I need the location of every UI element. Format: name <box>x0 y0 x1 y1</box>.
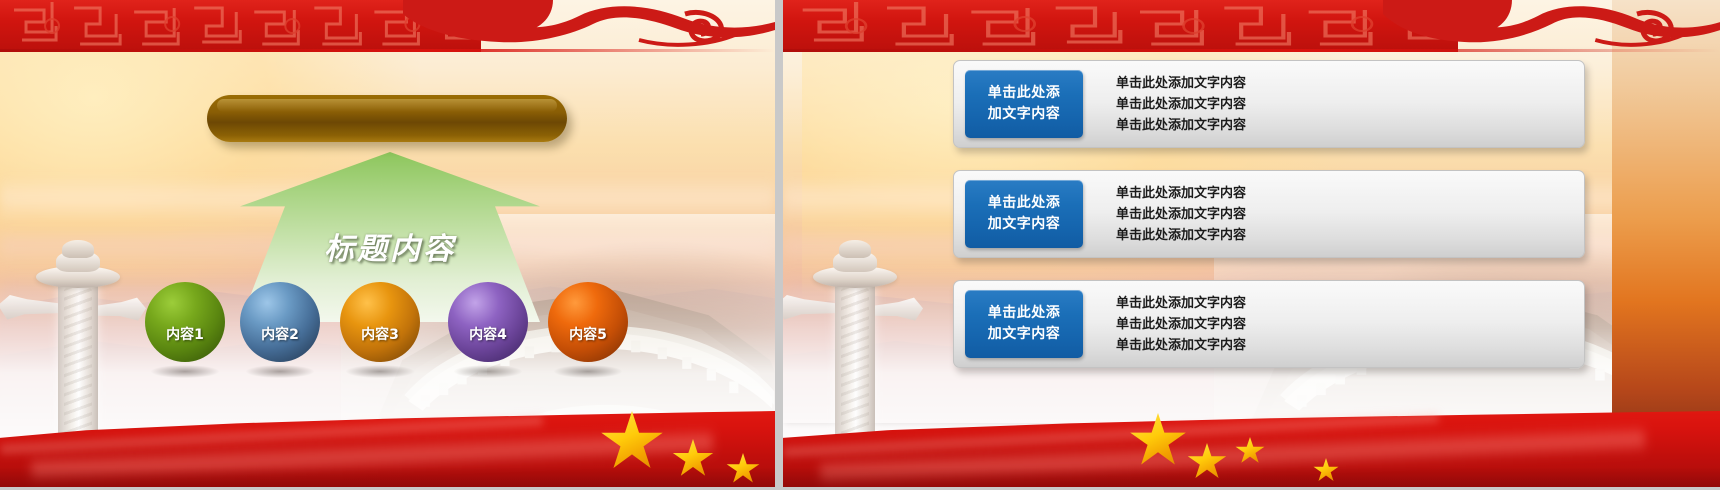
circle-row: 内容1 内容2 内容3 内容4 内容5 <box>0 282 775 392</box>
circle-label: 内容5 <box>548 324 628 344</box>
circle-item-4[interactable]: 内容4 <box>448 282 528 362</box>
circle-shadow <box>246 365 314 378</box>
circle-label: 内容3 <box>340 324 420 344</box>
row-body-text: 单击此处添加文字内容 单击此处添加文字内容 单击此处添加文字内容 <box>1116 73 1570 136</box>
slide-divider <box>775 0 783 490</box>
row-tag-line2: 加文字内容 <box>988 214 1061 235</box>
circle-shadow <box>554 365 622 378</box>
row-body-line: 单击此处添加文字内容 <box>1116 73 1570 94</box>
slide-header-bar <box>783 0 1720 52</box>
title-placeholder-bar[interactable] <box>207 95 567 142</box>
row-body-text: 单击此处添加文字内容 单击此处添加文字内容 单击此处添加文字内容 <box>1116 293 1570 356</box>
circle-label: 内容2 <box>240 324 320 344</box>
row-body-text: 单击此处添加文字内容 单击此处添加文字内容 单击此处添加文字内容 <box>1116 183 1570 246</box>
red-silk-ribbon <box>783 391 1720 487</box>
row-body-line: 单击此处添加文字内容 <box>1116 115 1570 136</box>
red-silk-ribbon <box>0 391 775 487</box>
content-row[interactable]: 单击此处添 加文字内容 单击此处添加文字内容 单击此处添加文字内容 单击此处添加… <box>953 280 1585 368</box>
cloud-swirl-decoration <box>1383 0 1720 52</box>
content-row[interactable]: 单击此处添 加文字内容 单击此处添加文字内容 单击此处添加文字内容 单击此处添加… <box>953 60 1585 148</box>
row-tag-line2: 加文字内容 <box>988 104 1061 125</box>
row-body-line: 单击此处添加文字内容 <box>1116 94 1570 115</box>
two-slide-deck: 标题内容 内容1 内容2 内容3 内容4 内容5 <box>0 0 1720 490</box>
content-rows: 单击此处添 加文字内容 单击此处添加文字内容 单击此处添加文字内容 单击此处添加… <box>953 60 1585 390</box>
circle-shadow <box>454 365 522 378</box>
circle-shadow <box>151 365 219 378</box>
row-body-line: 单击此处添加文字内容 <box>1116 225 1570 246</box>
row-tag-line2: 加文字内容 <box>988 324 1061 345</box>
circle-shadow <box>346 365 414 378</box>
row-tag-line1: 单击此处添 <box>988 193 1061 214</box>
circle-item-3[interactable]: 内容3 <box>340 282 420 362</box>
circle-label: 内容1 <box>145 324 225 344</box>
chinese-fret-pattern <box>783 0 1458 52</box>
slide-left[interactable]: 标题内容 内容1 内容2 内容3 内容4 内容5 <box>0 0 775 487</box>
circle-item-5[interactable]: 内容5 <box>548 282 628 362</box>
slide-right[interactable]: 单击此处添 加文字内容 单击此处添加文字内容 单击此处添加文字内容 单击此处添加… <box>783 0 1720 487</box>
cloud-swirl-decoration <box>403 0 775 52</box>
row-body-line: 单击此处添加文字内容 <box>1116 293 1570 314</box>
row-tag-line1: 单击此处添 <box>988 83 1061 104</box>
row-body-line: 单击此处添加文字内容 <box>1116 314 1570 335</box>
circle-item-2[interactable]: 内容2 <box>240 282 320 362</box>
row-tag-line1: 单击此处添 <box>988 303 1061 324</box>
arrow-title-text: 标题内容 <box>240 224 540 268</box>
row-tag-button[interactable]: 单击此处添 加文字内容 <box>965 290 1083 358</box>
row-tag-button[interactable]: 单击此处添 加文字内容 <box>965 180 1083 248</box>
circle-item-1[interactable]: 内容1 <box>145 282 225 362</box>
content-row[interactable]: 单击此处添 加文字内容 单击此处添加文字内容 单击此处添加文字内容 单击此处添加… <box>953 170 1585 258</box>
row-body-line: 单击此处添加文字内容 <box>1116 183 1570 204</box>
row-body-line: 单击此处添加文字内容 <box>1116 204 1570 225</box>
slide-header-bar <box>0 0 775 52</box>
circle-label: 内容4 <box>448 324 528 344</box>
row-tag-button[interactable]: 单击此处添 加文字内容 <box>965 70 1083 138</box>
row-body-line: 单击此处添加文字内容 <box>1116 335 1570 356</box>
